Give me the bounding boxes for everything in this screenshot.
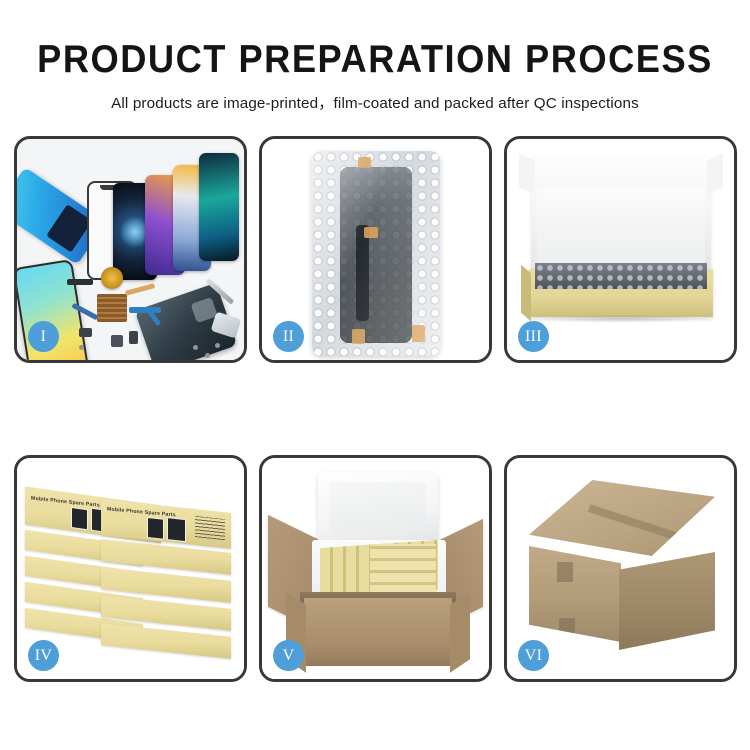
screw-1 (193, 345, 198, 350)
process-step-1[interactable]: I (14, 136, 247, 363)
speaker-coil-part (101, 267, 123, 289)
infographic-page: PRODUCT PREPARATION PROCESS All products… (0, 0, 750, 750)
process-step-3[interactable]: III (504, 136, 737, 363)
foam-box-lid (318, 472, 438, 544)
box-phone-image-1 (71, 507, 88, 530)
page-subtitle: All products are image-printed，film-coat… (0, 91, 750, 113)
box-spec-lines-2 (195, 516, 225, 540)
chip-grid-part (97, 294, 127, 322)
carton-top-seam (588, 504, 714, 552)
step-badge-5: V (273, 640, 304, 671)
component-bar-1 (67, 279, 93, 285)
foam-sheet (537, 187, 705, 267)
carton-front-face (529, 546, 621, 642)
process-step-2[interactable]: II (259, 136, 492, 363)
process-step-4[interactable]: Mobile Phone Spare Parts Mobile Phone Sp… (14, 455, 247, 682)
process-step-6[interactable]: VI (504, 455, 737, 682)
carton-top-face (529, 480, 715, 556)
bag-gloss-overlay (312, 151, 440, 356)
screw-4 (79, 345, 84, 350)
component-bar-4 (129, 331, 138, 344)
flex-cable-3 (129, 307, 161, 313)
step-badge-2: II (273, 321, 304, 352)
process-grid: I II (14, 136, 736, 682)
carton-side-face (619, 552, 715, 650)
component-bar-2 (79, 328, 92, 337)
box-phone-image-4 (167, 517, 186, 542)
component-bar-3 (111, 335, 123, 347)
step-badge-6: VI (518, 640, 549, 671)
carton-front-panel (304, 598, 452, 666)
flex-cable-2 (125, 283, 155, 296)
phone-screen-teal (199, 153, 239, 261)
step-badge-4: IV (28, 640, 59, 671)
step-badge-1: I (28, 321, 59, 352)
carton-tape-tab-2 (559, 618, 575, 638)
bubble-wrap-contents (535, 263, 707, 289)
carton-tape-tab-1 (557, 562, 573, 582)
box-phone-image-3 (147, 517, 164, 540)
header: PRODUCT PREPARATION PROCESS All products… (0, 0, 750, 113)
yellow-boxes-row-2 (370, 544, 436, 594)
step-badge-3: III (518, 321, 549, 352)
screw-2 (205, 353, 210, 358)
screw-3 (215, 343, 220, 348)
bubble-wrap-bag (312, 151, 440, 356)
box-drop-shadow (533, 315, 711, 323)
process-step-5[interactable]: V (259, 455, 492, 682)
page-title: PRODUCT PREPARATION PROCESS (26, 40, 724, 81)
